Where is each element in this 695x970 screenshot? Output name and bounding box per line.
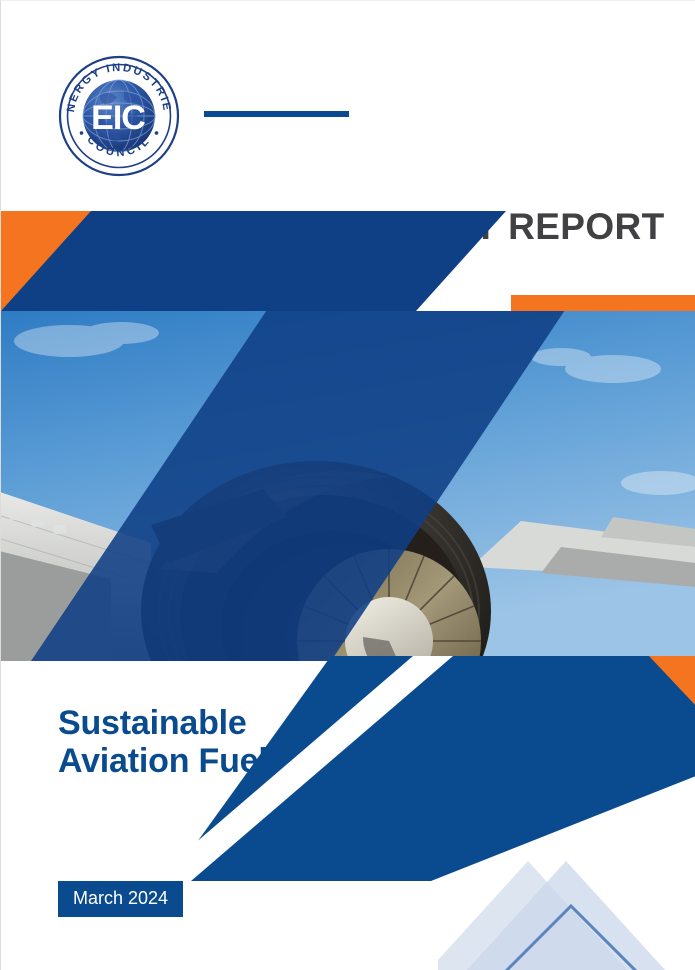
header-rule xyxy=(204,111,349,117)
date-badge: March 2024 xyxy=(58,881,183,917)
jet-engine-photo xyxy=(1,311,695,661)
page-title: Sustainable Aviation Fuel xyxy=(58,704,388,780)
title-line-2: Aviation Fuel xyxy=(58,742,388,780)
logo-monogram: EIC xyxy=(91,99,145,137)
title-line-1: Sustainable xyxy=(58,704,388,742)
eic-logo: ENERGY INDUSTRIES COUNCIL EIC xyxy=(58,55,180,177)
top-decor-band xyxy=(1,197,695,315)
orange-bar-right xyxy=(511,295,695,311)
report-cover: ENERGY INDUSTRIES COUNCIL EIC EIC INSIGH… xyxy=(0,0,695,970)
chevron-watermark xyxy=(438,846,695,970)
